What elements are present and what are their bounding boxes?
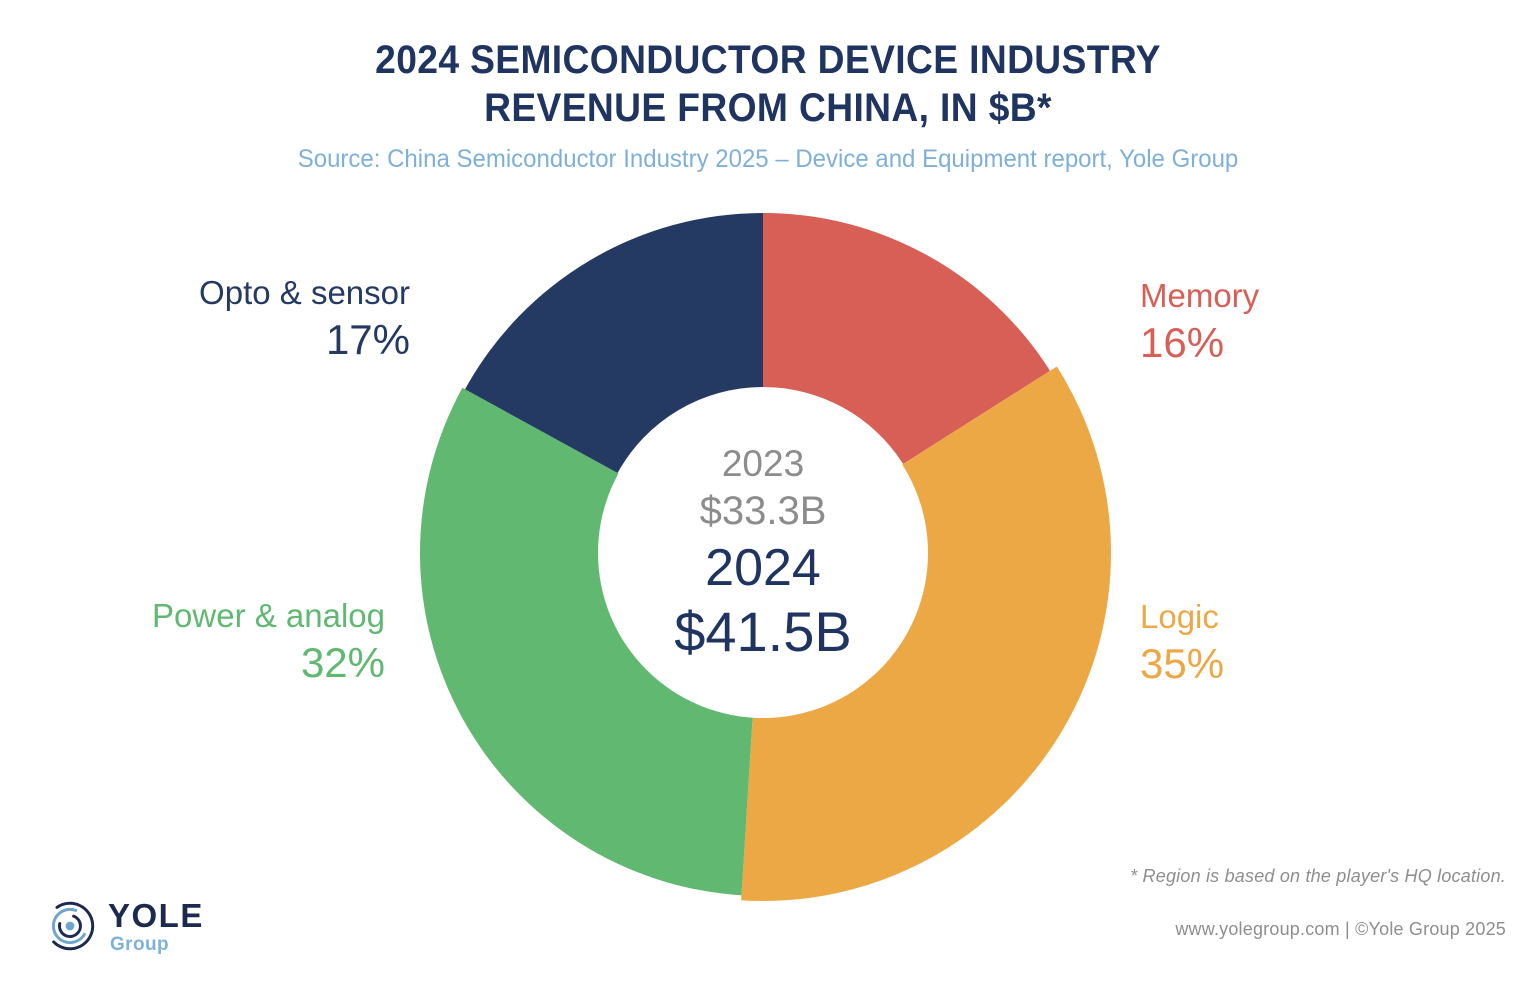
slice-label-logic-name: Logic xyxy=(1140,596,1470,638)
slice-label-opto-sensor-name: Opto & sensor xyxy=(60,272,410,314)
donut-svg xyxy=(413,203,1113,903)
slice-label-power-analog-percent: 32% xyxy=(60,637,385,689)
page-subtitle: Source: China Semiconductor Industry 202… xyxy=(31,142,1506,176)
slice-label-memory-name: Memory xyxy=(1140,275,1470,317)
slice-label-opto-sensor-percent: 17% xyxy=(60,314,410,366)
chart-page: 2024 SEMICONDUCTOR DEVICE INDUSTRY REVEN… xyxy=(0,0,1536,982)
slice-label-logic-percent: 35% xyxy=(1140,638,1470,690)
page-title-line-2: REVENUE FROM CHINA, IN $B* xyxy=(54,84,1482,132)
slice-label-logic: Logic 35% xyxy=(1140,596,1470,690)
slice-label-memory-percent: 16% xyxy=(1140,317,1470,369)
copyright-line: www.yolegroup.com | ©Yole Group 2025 xyxy=(1175,919,1506,940)
page-title: 2024 SEMICONDUCTOR DEVICE INDUSTRY REVEN… xyxy=(54,36,1482,132)
slice-label-power-analog-name: Power & analog xyxy=(60,595,385,637)
logo-name: YOLE xyxy=(108,899,204,932)
yole-group-logo: YOLE Group xyxy=(42,898,204,954)
logo-suffix: Group xyxy=(110,935,204,954)
logo-wordmark: YOLE Group xyxy=(108,899,204,954)
slice-label-opto-sensor: Opto & sensor 17% xyxy=(60,272,410,366)
footnote: * Region is based on the player's HQ loc… xyxy=(1130,866,1506,887)
page-title-line-1: 2024 SEMICONDUCTOR DEVICE INDUSTRY xyxy=(54,36,1482,84)
slice-label-memory: Memory 16% xyxy=(1140,275,1470,369)
yole-swirl-icon xyxy=(42,898,98,954)
donut-hole xyxy=(598,388,928,718)
slice-label-power-analog: Power & analog 32% xyxy=(60,595,385,689)
donut-chart xyxy=(413,203,1113,903)
